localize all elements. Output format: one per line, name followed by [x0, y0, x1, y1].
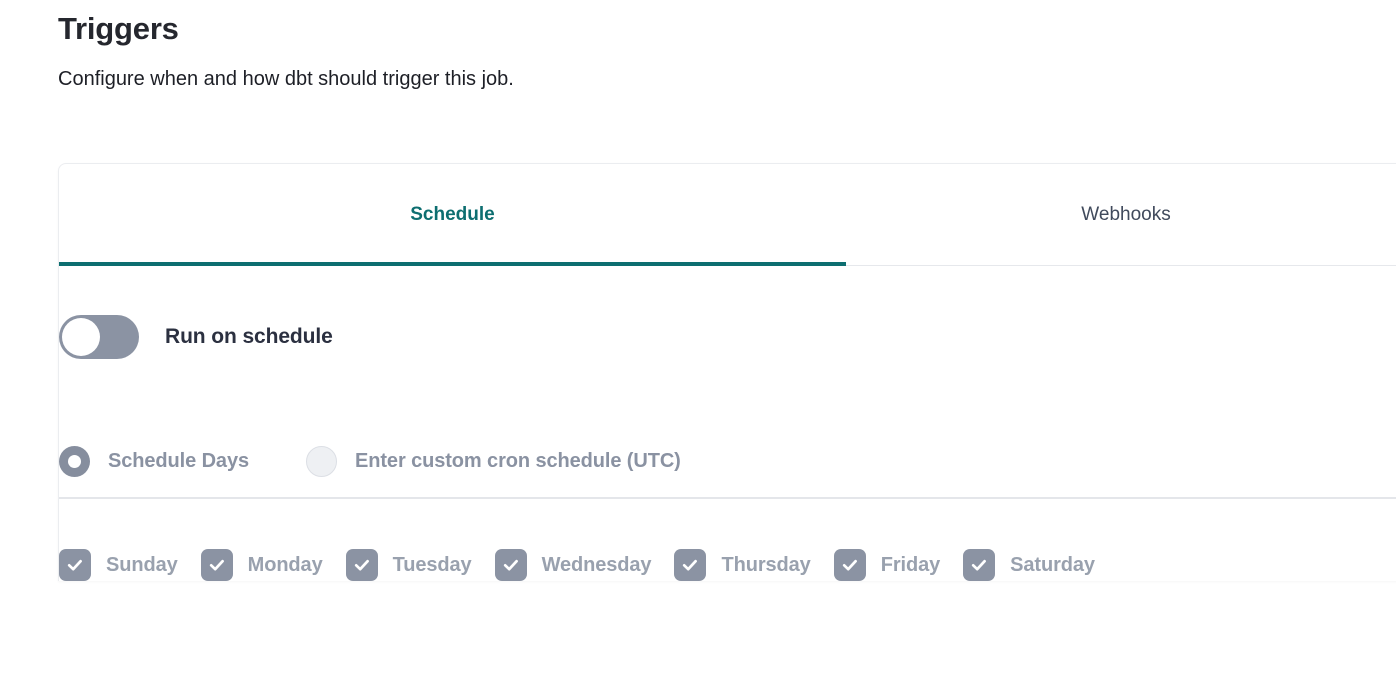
triggers-card: Schedule Webhooks Run on schedule Schedu…	[58, 163, 1396, 581]
checkmark-icon[interactable]	[495, 549, 527, 581]
page-header: Triggers Configure when and how dbt shou…	[58, 10, 1358, 93]
page-subtitle: Configure when and how dbt should trigge…	[58, 49, 1358, 93]
checkmark-icon[interactable]	[201, 549, 233, 581]
radio-option-custom-cron[interactable]: Enter custom cron schedule (UTC)	[306, 446, 681, 477]
day-checkbox-monday[interactable]: Monday	[201, 549, 323, 581]
radio-label-schedule-days: Schedule Days	[108, 450, 249, 473]
triggers-page: Triggers Configure when and how dbt shou…	[0, 0, 1396, 680]
schedule-days-row: Sunday Monday Tu	[59, 499, 1396, 581]
tab-webhooks-label: Webhooks	[1081, 204, 1170, 226]
run-on-schedule-toggle[interactable]	[59, 315, 139, 359]
day-label-saturday: Saturday	[1010, 554, 1095, 577]
radio-label-custom-cron: Enter custom cron schedule (UTC)	[355, 450, 681, 473]
day-checkbox-tuesday[interactable]: Tuesday	[346, 549, 472, 581]
checkmark-icon[interactable]	[59, 549, 91, 581]
schedule-panel: Run on schedule Schedule Days Enter cust…	[59, 266, 1396, 581]
tab-schedule-label: Schedule	[410, 204, 494, 226]
tab-webhooks[interactable]: Webhooks	[846, 164, 1396, 265]
toggle-knob-icon	[62, 318, 100, 356]
radio-unselected-icon[interactable]	[306, 446, 337, 477]
page-title: Triggers	[58, 10, 1358, 49]
day-label-wednesday: Wednesday	[542, 554, 652, 577]
tab-schedule[interactable]: Schedule	[59, 164, 846, 265]
day-label-sunday: Sunday	[106, 554, 178, 577]
radio-option-schedule-days[interactable]: Schedule Days	[59, 446, 249, 477]
day-label-friday: Friday	[881, 554, 940, 577]
checkmark-icon[interactable]	[834, 549, 866, 581]
run-on-schedule-label: Run on schedule	[165, 325, 333, 349]
run-on-schedule-row: Run on schedule	[59, 266, 1396, 370]
checkmark-icon[interactable]	[346, 549, 378, 581]
day-label-tuesday: Tuesday	[393, 554, 472, 577]
day-label-monday: Monday	[248, 554, 323, 577]
checkmark-icon[interactable]	[963, 549, 995, 581]
day-checkbox-sunday[interactable]: Sunday	[59, 549, 178, 581]
day-checkbox-thursday[interactable]: Thursday	[674, 549, 810, 581]
schedule-mode-radio-group: Schedule Days Enter custom cron schedule…	[59, 370, 1396, 497]
checkmark-icon[interactable]	[674, 549, 706, 581]
day-label-thursday: Thursday	[721, 554, 810, 577]
day-checkbox-friday[interactable]: Friday	[834, 549, 940, 581]
radio-selected-icon[interactable]	[59, 446, 90, 477]
day-checkbox-wednesday[interactable]: Wednesday	[495, 549, 652, 581]
day-checkbox-saturday[interactable]: Saturday	[963, 549, 1095, 581]
tab-bar: Schedule Webhooks	[59, 164, 1396, 266]
